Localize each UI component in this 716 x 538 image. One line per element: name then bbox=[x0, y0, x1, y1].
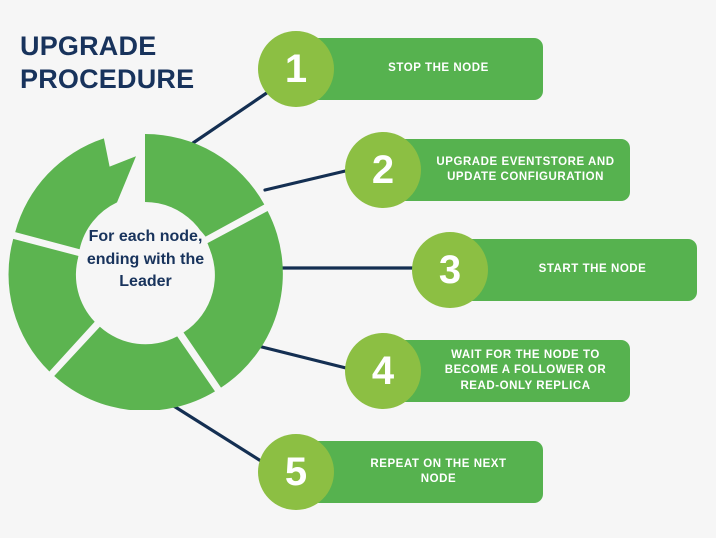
step-5[interactable]: REPEAT ON THE NEXT NODE 5 bbox=[258, 441, 543, 503]
cycle-center-label: For each node, ending with the Leader bbox=[58, 226, 233, 294]
step-2[interactable]: UPGRADE EVENTSTORE AND UPDATE CONFIGURAT… bbox=[345, 139, 630, 201]
step-3[interactable]: START THE NODE 3 bbox=[412, 239, 697, 301]
step-4[interactable]: WAIT FOR THE NODE TO BECOME A FOLLOWER O… bbox=[345, 340, 630, 402]
step-2-number: 2 bbox=[345, 132, 421, 208]
upgrade-procedure-infographic: UPGRADE PROCEDURE For each node, ending … bbox=[0, 0, 716, 538]
step-1-number: 1 bbox=[258, 31, 334, 107]
cycle-diagram: For each node, ending with the Leader bbox=[5, 130, 285, 410]
step-5-number: 5 bbox=[258, 434, 334, 510]
step-4-number: 4 bbox=[345, 333, 421, 409]
page-title: UPGRADE PROCEDURE bbox=[20, 30, 250, 96]
step-3-number: 3 bbox=[412, 232, 488, 308]
step-1[interactable]: STOP THE NODE 1 bbox=[258, 38, 543, 100]
